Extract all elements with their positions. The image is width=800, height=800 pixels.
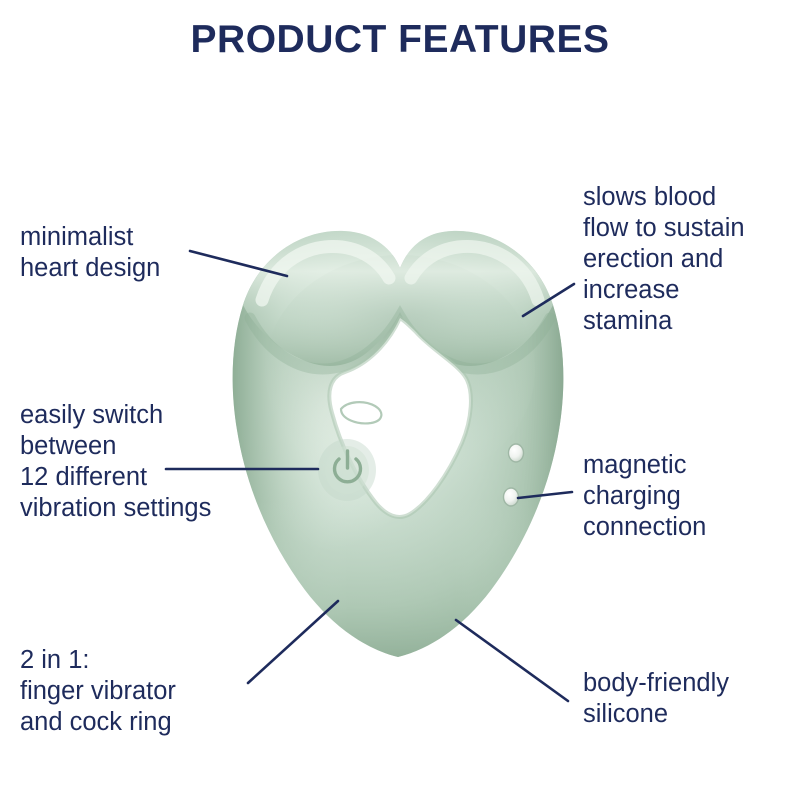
bottom-shading <box>228 500 573 675</box>
callout-two-in-one: 2 in 1: finger vibrator and cock ring <box>20 645 270 738</box>
callout-minimalist-heart-design: minimalist heart design <box>20 222 255 284</box>
callout-vibration-settings: easily switch between 12 different vibra… <box>20 400 280 524</box>
product-features-infographic: PRODUCT FEATURES <box>0 0 800 800</box>
callout-slows-blood-flow: slows blood flow to sustain erection and… <box>583 182 798 337</box>
charging-pin-lower <box>504 488 519 506</box>
callout-magnetic-charging: magnetic charging connection <box>583 450 795 543</box>
power-button[interactable] <box>318 439 376 501</box>
charging-pin-upper <box>509 444 524 462</box>
leader-line-body-friendly-silicone <box>456 620 568 701</box>
callout-body-friendly-silicone: body-friendly silicone <box>583 668 798 730</box>
